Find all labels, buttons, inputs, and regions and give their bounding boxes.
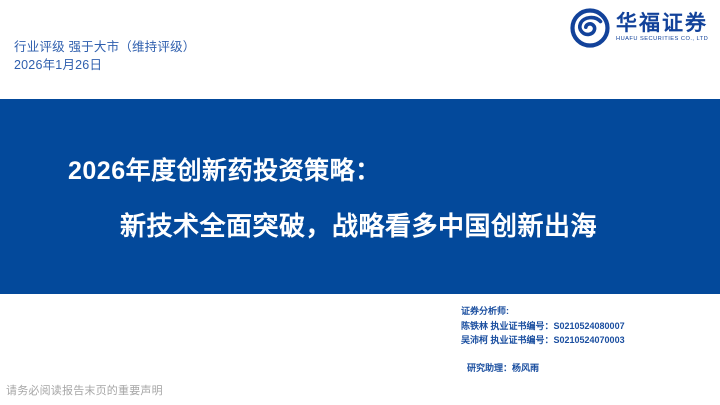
analyst-section-label: 证券分析师:	[461, 304, 625, 319]
report-cover-page: 行业评级 强于大市（维持评级） 2026年1月26日 华福证券 HUAFU SE…	[0, 0, 720, 405]
research-assistant-line: 研究助理：杨风雨	[467, 361, 539, 374]
report-title-line-2: 新技术全面突破，战略看多中国创新出海	[120, 206, 597, 243]
industry-rating-text: 行业评级 强于大市（维持评级）	[14, 38, 195, 56]
page-header: 行业评级 强于大市（维持评级） 2026年1月26日 华福证券 HUAFU SE…	[0, 0, 720, 99]
analyst-entry: 陈铁林 执业证书编号：S0210524080007	[461, 319, 625, 334]
analyst-entry: 吴沛柯 执业证书编号：S0210524070003	[461, 333, 625, 348]
logo-company-name-cn: 华福证券	[616, 13, 708, 34]
huafu-swirl-logo-icon	[570, 8, 610, 48]
logo-company-name-en: HUAFU SECURITIES CO., LTD	[616, 37, 710, 43]
analyst-credits-block: 证券分析师: 陈铁林 执业证书编号：S0210524080007 吴沛柯 执业证…	[461, 304, 625, 348]
footer-disclaimer: 请务必阅读报告末页的重要声明	[6, 382, 163, 398]
industry-rating-block: 行业评级 强于大市（维持评级） 2026年1月26日	[14, 38, 195, 74]
company-logo: 华福证券 HUAFU SECURITIES CO., LTD	[570, 8, 708, 48]
logo-text-group: 华福证券 HUAFU SECURITIES CO., LTD	[616, 13, 708, 43]
report-date: 2026年1月26日	[14, 56, 195, 74]
title-banner: 2026年度创新药投资策略： 新技术全面突破，战略看多中国创新出海	[0, 99, 720, 294]
report-title-line-1: 2026年度创新药投资策略：	[68, 151, 381, 187]
